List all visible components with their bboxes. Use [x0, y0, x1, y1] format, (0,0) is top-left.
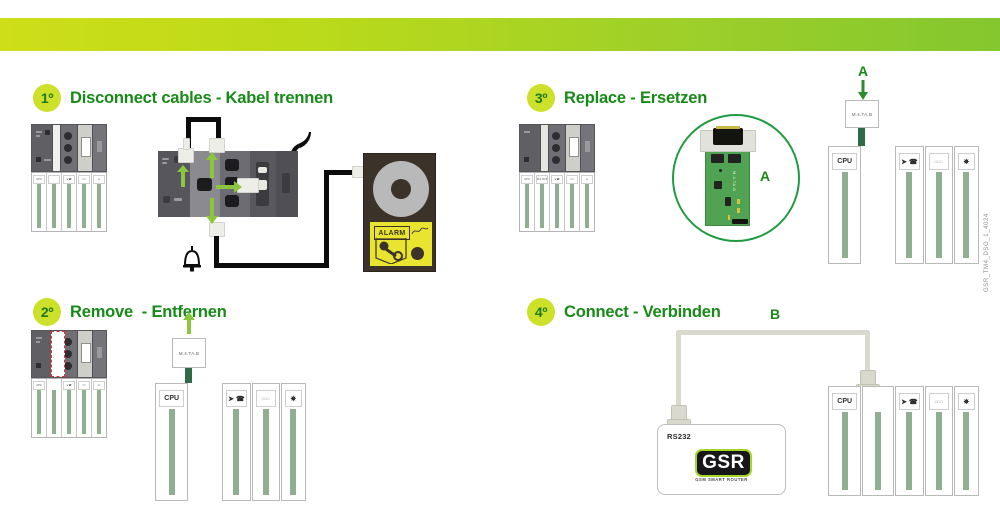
pcb-chip: [725, 197, 731, 206]
thumb-segment: [61, 125, 78, 171]
port-icon: [64, 132, 72, 140]
connector-plug-top-left: [178, 148, 194, 163]
thumb-slot: [97, 347, 102, 358]
thumb-slot-label: ➤☎: [63, 381, 75, 390]
thumb-slot-bar: [525, 184, 529, 228]
step-3-rack-thumbnail: CPU M.4.TA.B ➤☎ □□ ✵: [519, 172, 595, 232]
step-2-badge: 2º: [33, 298, 61, 326]
rack-slot-bar: [936, 172, 942, 258]
step-3-header: 3º Replace - Ersetzen: [527, 84, 707, 112]
thumb-slot-bar: [97, 184, 101, 228]
pcb-pad: [737, 199, 740, 204]
thumb-segment: [78, 125, 94, 171]
arrow-right-green-icon: [216, 180, 242, 194]
pcb-chip: [728, 154, 741, 163]
step-1-header: 1º Disconnect cables - Kabel trennen: [33, 84, 333, 112]
arrow-down-green-icon: [205, 198, 219, 224]
pcb-pad: [737, 208, 740, 213]
thumb-slot-label: □□: [78, 175, 90, 184]
rs232-port-label: RS232: [667, 432, 691, 441]
led-indicator: [36, 135, 40, 137]
port-icon: [64, 350, 72, 358]
led-indicator: [44, 159, 51, 161]
cable-siren-vertical: [324, 170, 329, 268]
panel-dsub-pin: [258, 167, 267, 173]
siren-button: [411, 247, 424, 260]
arrow-down-insert-icon: [856, 80, 870, 100]
rack-slot-module: [862, 386, 893, 496]
pcb-via: [719, 169, 722, 172]
thumb-chip: [36, 157, 41, 162]
pcb-dsub-connector: [713, 128, 743, 145]
thumb-segment: [78, 331, 94, 377]
panel-port: [225, 195, 239, 207]
thumb-chip: [45, 130, 50, 135]
port-icon: [552, 156, 560, 164]
step-4-rack: CPU ➤ ☎ □□□ ✵: [828, 386, 980, 496]
insert-letter-a: A: [858, 63, 868, 79]
step-4-header: 4º Connect - Verbinden: [527, 298, 721, 326]
rack-slot-label: □□□: [929, 153, 948, 170]
step-3-insert-module: M.4.TA.B: [845, 100, 879, 128]
thumb-slot-bar: [555, 184, 559, 228]
thumb-slot-label: □□: [566, 175, 578, 184]
step-2-title: Remove - Entfernen: [70, 303, 227, 322]
step-1-rack-thumbnail: CPU ➤☎ □□ ✵: [31, 172, 107, 232]
thumb-segment: [53, 125, 61, 171]
step-4-title: Connect - Verbinden: [564, 303, 721, 322]
thumb-segment: [93, 125, 106, 171]
dsub-connector-icon: [569, 137, 579, 157]
rack-slot-label: CPU: [832, 153, 857, 170]
rack-slot-io: □□□: [252, 383, 279, 501]
thumb-rack-slot: ✵: [92, 173, 106, 231]
thumb-slot-bar: [67, 184, 71, 228]
step-4-badge: 4º: [527, 298, 555, 326]
thumb-rack-slot: CPU: [520, 173, 535, 231]
rack-slot-bar: [290, 409, 296, 495]
port-icon: [64, 156, 72, 164]
rack-slot-bar: [875, 412, 881, 490]
poster-canvas: GSR_TM4_DSG_1_4024 1º Disconnect cables …: [0, 0, 1000, 518]
thumb-slot-bar: [37, 390, 41, 434]
gsr-logo-text: GSR: [702, 452, 745, 474]
rack-slot-label: ✵: [958, 393, 975, 410]
thumb-slot-label: ✵: [93, 381, 105, 390]
rack-slot-bar: [936, 412, 942, 490]
pcb-chip: [714, 181, 722, 189]
key-warning-icon: [375, 238, 407, 264]
rack-slot-label: ➤ ☎: [899, 393, 920, 410]
step-1-title: Disconnect cables - Kabel trennen: [70, 89, 333, 108]
port-icon: [64, 362, 72, 370]
port-icon: [64, 144, 72, 152]
rack-slot-bar: [842, 412, 848, 490]
removed-module-highlight: [51, 331, 65, 377]
module-label: M.4.TA.B: [179, 351, 199, 356]
thumb-slot-bar: [585, 184, 589, 228]
rack-slot-io: □□□: [925, 146, 952, 264]
thumb-slot: [585, 141, 590, 152]
panel-port: [197, 178, 212, 191]
thumb-rack-slot: ➤☎: [62, 379, 77, 437]
rack-slot-label: ✵: [285, 390, 303, 407]
panel-end-slot: [282, 173, 290, 193]
rack-slot-bar: [263, 409, 269, 495]
step-1-badge: 1º: [33, 84, 61, 112]
rack-slot-label: CPU: [832, 393, 857, 410]
step-3-module-thumbnail: [519, 124, 595, 172]
cable-b-left-vertical: [676, 330, 681, 415]
thumb-slot-bar: [52, 184, 56, 228]
thumb-slot-label: ✵: [581, 175, 593, 184]
gsr-device: RS232 GSR GSM SMART ROUTER: [657, 424, 786, 495]
thumb-slot-bar: [540, 184, 544, 228]
thumb-chip: [524, 157, 529, 162]
alarm-siren-device: ALARM: [363, 153, 436, 272]
thumb-rack-slot: CPU: [32, 173, 47, 231]
panel-port: [225, 159, 239, 171]
pcb-silkscreen-label: M.4.TA.B: [732, 171, 737, 191]
rack-slot-label: □□□: [256, 390, 275, 407]
step-3-title: Replace - Ersetzen: [564, 89, 707, 108]
panel-led: [174, 198, 182, 201]
led-indicator: [36, 341, 40, 343]
thumb-rack-slot: □□: [77, 379, 92, 437]
led-indicator: [524, 131, 530, 133]
thumb-slot-bar: [82, 184, 86, 228]
thumb-slot-bar: [52, 390, 56, 434]
gsr-subtitle: GSM SMART ROUTER: [658, 477, 785, 482]
thumb-segment: [549, 125, 566, 171]
gsr-logo-badge: GSR: [695, 449, 752, 477]
rack-slot-bar: [963, 172, 969, 258]
rack-slot-label: CPU: [159, 390, 184, 407]
thumb-slot-label: ✵: [93, 175, 105, 184]
pcb-chip: [711, 154, 724, 163]
rack-slot-io: □□□: [925, 386, 952, 496]
dsub-connector-icon: [81, 343, 91, 363]
cable-bottom-horizontal: [214, 263, 329, 268]
thumb-slot-label: CPU: [521, 175, 533, 184]
thumb-rack-slot: ➤☎: [550, 173, 565, 231]
rack-slot-bar: [169, 409, 175, 495]
connector-plug-top-mid: [209, 138, 225, 153]
step-2-module-thumbnail: [31, 330, 107, 378]
rack-slot-label: □□□: [929, 393, 948, 410]
arrow-up-remove-icon: [182, 312, 196, 334]
rack-slot-label: ➤ ☎: [226, 390, 247, 407]
siren-speaker-hole: [391, 179, 411, 199]
rack-slot-empty: [189, 383, 220, 501]
step-2-header: 2º Remove - Entfernen: [33, 298, 227, 326]
thumb-slot-bar: [82, 390, 86, 434]
thumb-segment-new: [541, 125, 549, 171]
document-side-code: GSR_TM4_DSG_1_4024: [984, 213, 990, 292]
signature-mark-icon: [411, 225, 429, 237]
step-2-removed-module: M.4.TA.B: [172, 338, 206, 368]
arrow-up-green-icon: [205, 152, 219, 178]
led-indicator: [36, 131, 42, 133]
led-indicator: [36, 337, 42, 339]
rack-slot-label: ✵: [958, 153, 976, 170]
pcb-pad: [728, 215, 730, 220]
panel-led: [162, 158, 169, 160]
thumb-slot-label: ➤☎: [63, 175, 75, 184]
thumb-rack-slot: □□: [565, 173, 580, 231]
thumb-slot-label: □□: [78, 381, 90, 390]
thumb-rack-slot: [47, 173, 62, 231]
thumb-slot-label: M.4.TA.B: [536, 175, 548, 184]
port-icon: [552, 144, 560, 152]
cable-letter-b: B: [770, 306, 780, 322]
thumb-rack-slot: ✵: [92, 379, 106, 437]
thumb-segment: [93, 331, 106, 377]
header-gradient-band: [0, 18, 1000, 51]
port-icon: [552, 132, 560, 140]
panel-led: [162, 162, 167, 164]
rack-slot-cpu: CPU: [828, 146, 861, 264]
thumb-slot-bar: [67, 390, 71, 434]
thumb-segment: [581, 125, 594, 171]
thumb-rack-slot: ✵: [580, 173, 594, 231]
rack-slot-comm: ➤ ☎: [222, 383, 251, 501]
thumb-slot-label: CPU: [33, 175, 45, 184]
thumb-rack-slot: CPU: [32, 379, 47, 437]
rack-slot-cpu: CPU: [155, 383, 188, 501]
rack-slot-power: ✵: [281, 383, 307, 501]
cable-b-horizontal: [676, 330, 870, 335]
thumb-slot-label: ➤☎: [551, 175, 563, 184]
arrow-up-green-icon: [176, 165, 190, 187]
panel-module-end: [276, 151, 298, 217]
rack-slot-bar: [906, 172, 912, 258]
step-3-rack: CPU ➤ ☎ □□□ ✵: [828, 146, 980, 264]
port-icon: [64, 338, 72, 346]
rack-slot-cpu: CPU: [828, 386, 861, 496]
thumb-chip: [36, 363, 41, 368]
connector-neck: [183, 138, 190, 150]
rack-slot-power: ✵: [954, 146, 980, 264]
rack-slot-bar: [842, 172, 848, 258]
rack-slot-bar: [233, 409, 239, 495]
thumb-slot-bar: [37, 184, 41, 228]
thumb-segment: [32, 125, 53, 171]
callout-letter-a: A: [760, 168, 770, 184]
bell-icon: [181, 246, 203, 272]
rack-slot-comm: ➤ ☎: [895, 386, 924, 496]
step-1-module-thumbnail: [31, 124, 107, 172]
rack-slot-empty: [862, 146, 893, 264]
panel-ground-icon: [163, 196, 170, 203]
module-label: M.4.TA.B: [852, 112, 872, 117]
thumb-slot-label: [48, 175, 60, 184]
thumb-rack-slot: ➤☎: [62, 173, 77, 231]
rack-slot-bar: [906, 412, 912, 490]
pcb-connector-shield: [716, 126, 740, 129]
thumb-slot-bar: [97, 390, 101, 434]
connector-plug-bottom: [209, 222, 225, 237]
thumb-segment: [566, 125, 582, 171]
thumb-rack-slot: □□: [77, 173, 92, 231]
pcb-edge-connector: [732, 219, 748, 224]
rack-slot-label: ➤ ☎: [899, 153, 920, 170]
thumb-slot-label: CPU: [33, 381, 45, 390]
thumb-slot: [97, 141, 102, 152]
thumb-slot-bar: [570, 184, 574, 228]
thumb-segment: [520, 125, 541, 171]
rack-slot-power: ✵: [954, 386, 979, 496]
panel-dsub-pin: [258, 180, 267, 190]
rack-slot-comm: ➤ ☎: [895, 146, 924, 264]
thumb-rack-slot: [47, 379, 62, 437]
step-3-badge: 3º: [527, 84, 555, 112]
dsub-connector-icon: [81, 137, 91, 157]
rack-slot-bar: [963, 412, 969, 490]
thumb-rack-slot: M.4.TA.B: [535, 173, 550, 231]
step-2-rack-thumbnail: CPU ➤☎ □□ ✵: [31, 378, 107, 438]
step-2-rack: CPU ➤ ☎ □□□ ✵: [155, 383, 307, 501]
